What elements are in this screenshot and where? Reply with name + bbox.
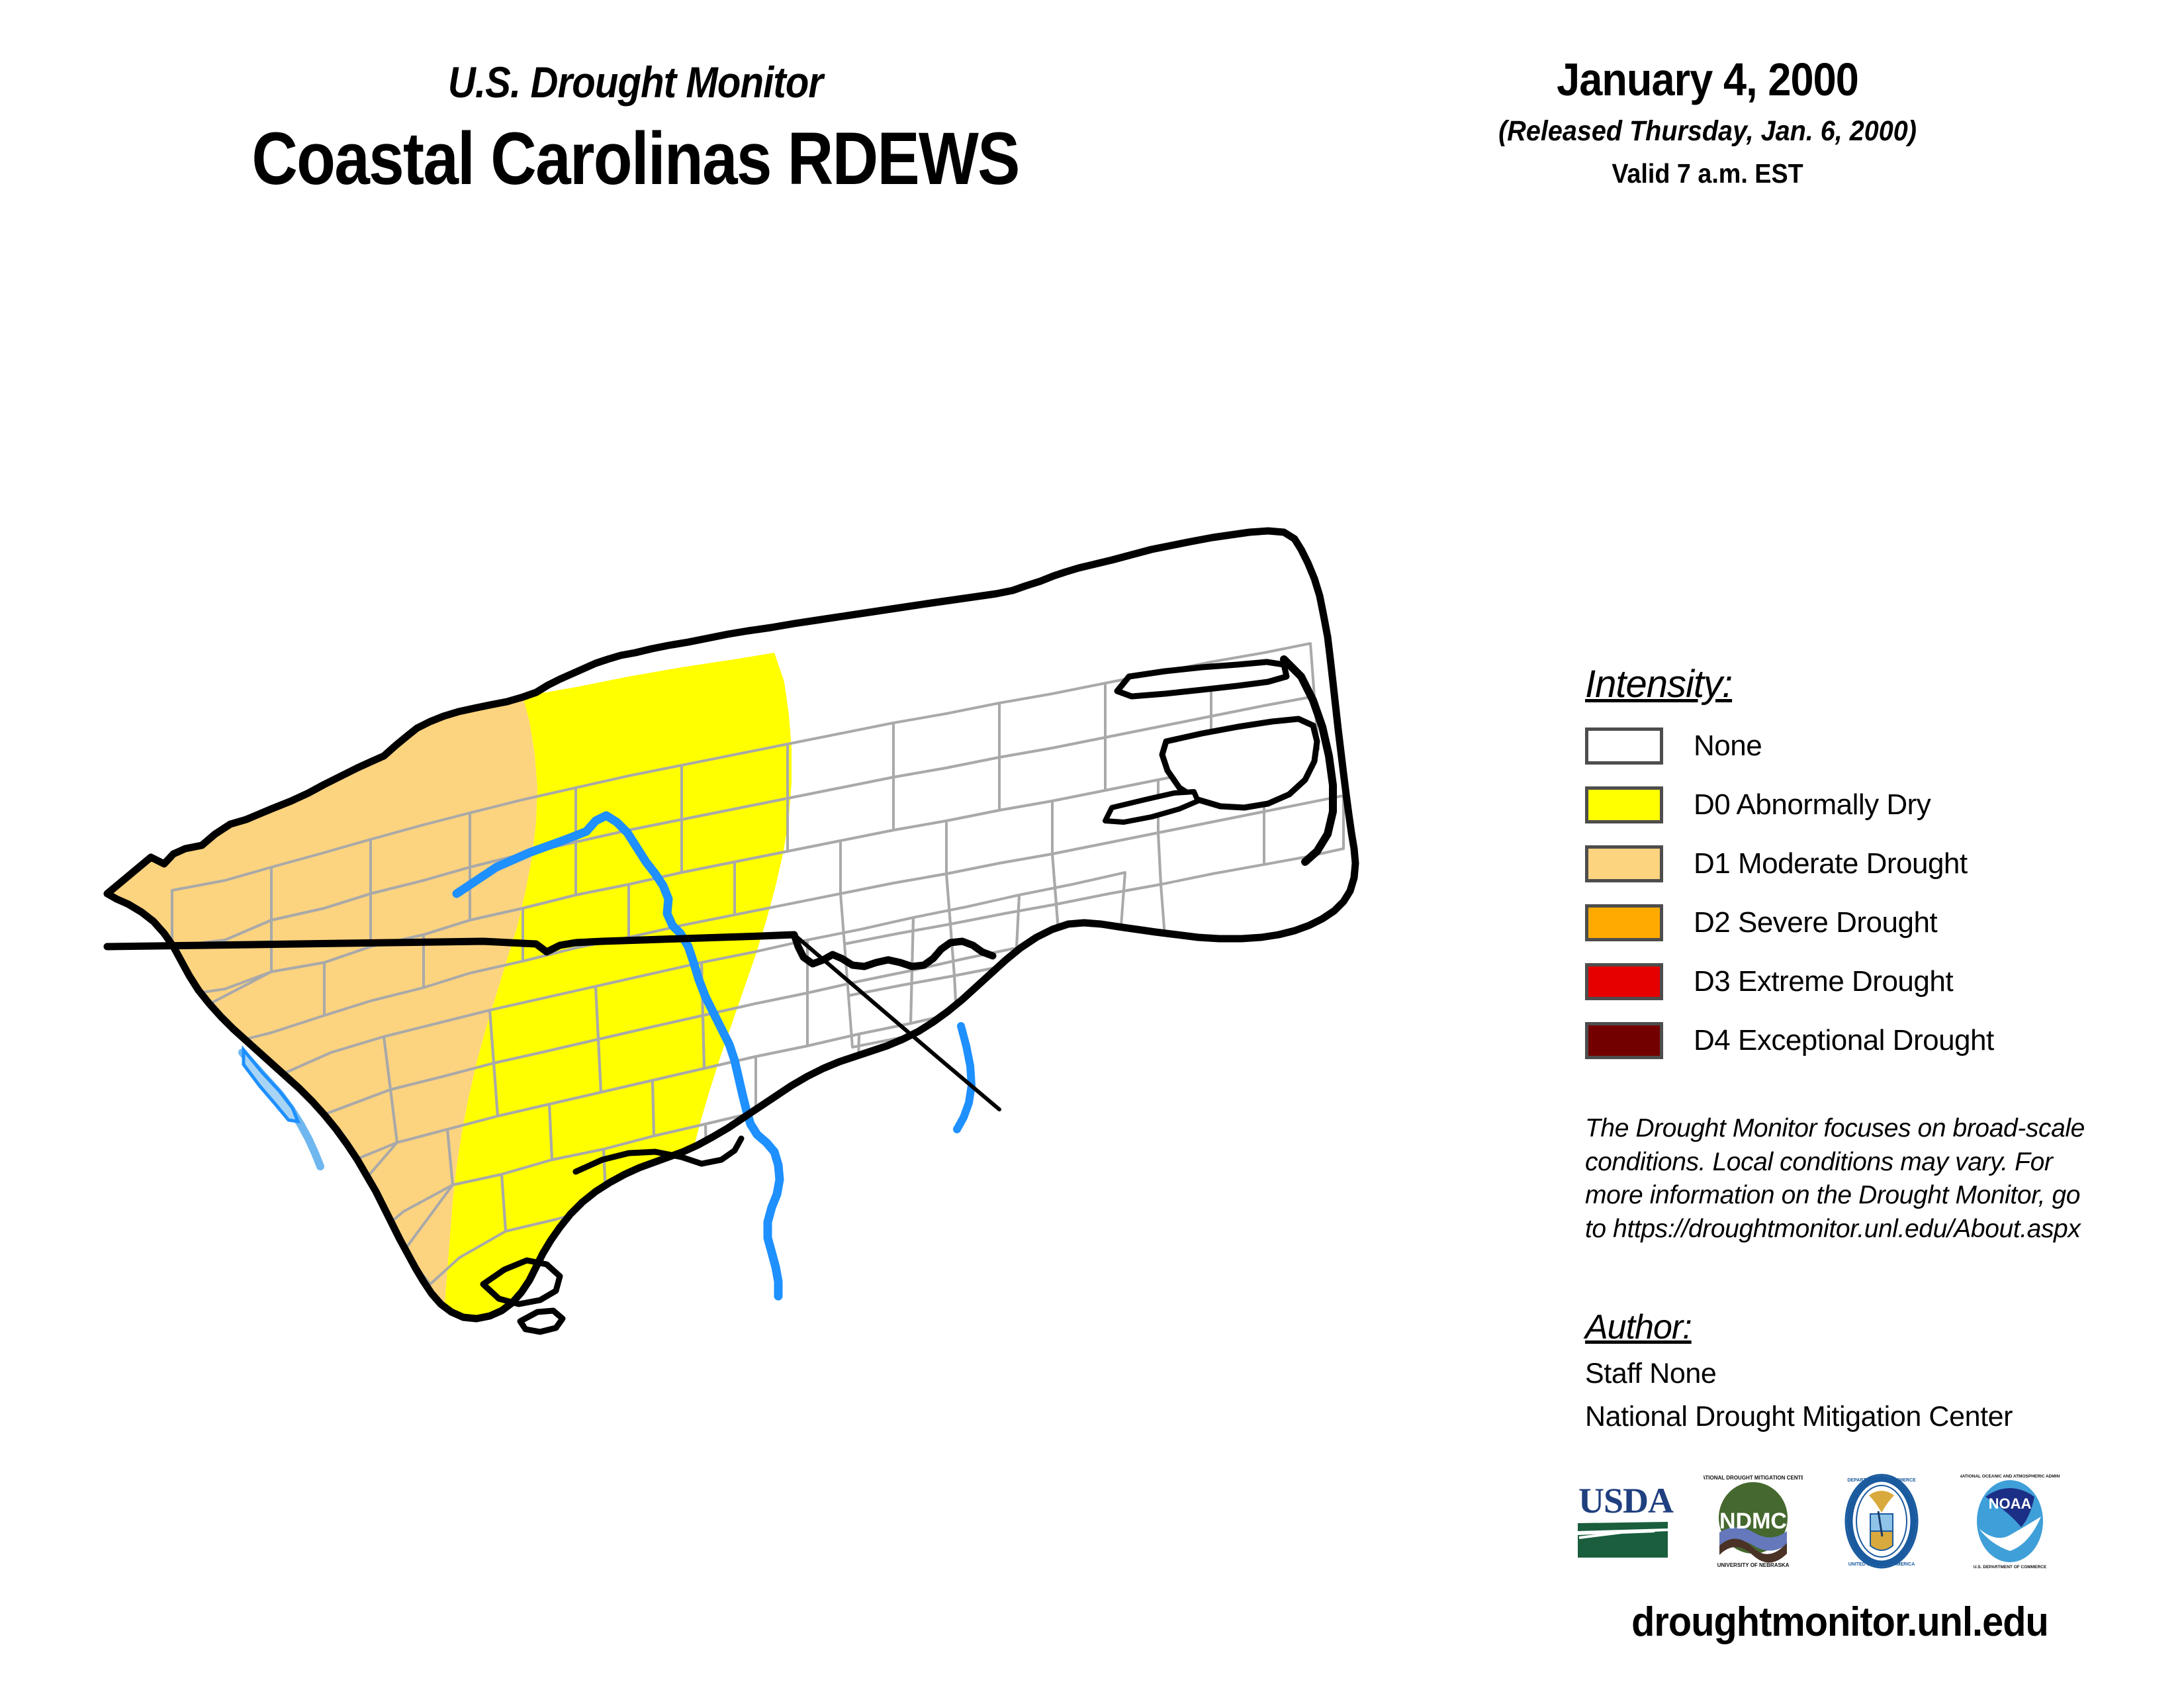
author-block: Author: Staff None National Drought Miti… <box>1585 1307 2108 1433</box>
legend-row-d2: D2 Severe Drought <box>1585 898 2095 947</box>
svg-text:NOAA: NOAA <box>1989 1495 2032 1512</box>
release-date: (Released Thursday, Jan. 6, 2000) <box>1403 115 2012 148</box>
legend-label-d0: D0 Abnormally Dry <box>1694 788 1931 821</box>
legend-title: Intensity: <box>1585 662 1732 706</box>
region-title: Coastal Carolinas RDEWS <box>89 116 1181 201</box>
swatch-d3 <box>1585 963 1663 1000</box>
title-block: U.S. Drought Monitor Coastal Carolinas R… <box>0 0 1310 252</box>
svg-text:NATIONAL DROUGHT MITIGATION CE: NATIONAL DROUGHT MITIGATION CENTER <box>1704 1475 1803 1481</box>
svg-text:U.S. DEPARTMENT OF COMMERCE: U.S. DEPARTMENT OF COMMERCE <box>1974 1565 2047 1570</box>
author-title: Author: <box>1585 1307 2108 1347</box>
valid-time: Valid 7 a.m. EST <box>1403 158 2012 189</box>
svg-text:USDA: USDA <box>1578 1481 1674 1521</box>
svg-text:UNITED STATES OF AMERICA: UNITED STATES OF AMERICA <box>1848 1562 1915 1567</box>
swatch-d2 <box>1585 904 1663 941</box>
map-date: January 4, 2000 <box>1410 53 2005 106</box>
swatch-d4 <box>1585 1022 1663 1059</box>
ndmc-logo: NDMC NATIONAL DROUGHT MITIGATION CENTER … <box>1704 1472 1803 1574</box>
swatch-d0 <box>1585 786 1663 823</box>
noaa-logo: NOAA NATIONAL OCEANIC AND ATMOSPHERIC AD… <box>1960 1472 2060 1574</box>
doc-seal-logo: DEPARTMENT OF COMMERCE UNITED STATES OF … <box>1832 1472 1931 1574</box>
legend: Intensity: None D0 Abnormally Dry D1 Mod… <box>1585 662 2095 1074</box>
legend-label-d4: D4 Exceptional Drought <box>1694 1024 1994 1057</box>
usda-logo: USDA <box>1575 1472 1674 1574</box>
program-title: U.S. Drought Monitor <box>76 57 1195 107</box>
legend-label-none: None <box>1694 729 1762 763</box>
legend-label-d3: D3 Extreme Drought <box>1694 965 1953 998</box>
svg-text:NATIONAL OCEANIC AND ATMOSPHER: NATIONAL OCEANIC AND ATMOSPHERIC ADMIN. <box>1960 1474 2060 1479</box>
author-affiliation: National Drought Mitigation Center <box>1585 1401 2108 1433</box>
legend-row-none: None <box>1585 721 2095 771</box>
author-name: Staff None <box>1585 1358 2108 1390</box>
swatch-none <box>1585 727 1663 765</box>
svg-text:UNIVERSITY OF NEBRASKA: UNIVERSITY OF NEBRASKA <box>1717 1562 1790 1568</box>
svg-text:DEPARTMENT OF COMMERCE: DEPARTMENT OF COMMERCE <box>1847 1478 1916 1483</box>
legend-row-d1: D1 Moderate Drought <box>1585 839 2095 888</box>
legend-label-d2: D2 Severe Drought <box>1694 906 1937 939</box>
disclaimer-text: The Drought Monitor focuses on broad-sca… <box>1585 1112 2108 1246</box>
date-block: January 4, 2000 (Released Thursday, Jan.… <box>1377 53 2038 189</box>
svg-text:NDMC: NDMC <box>1719 1509 1787 1534</box>
legend-row-d3: D3 Extreme Drought <box>1585 957 2095 1006</box>
legend-label-d1: D1 Moderate Drought <box>1694 847 1968 880</box>
legend-row-d4: D4 Exceptional Drought <box>1585 1015 2095 1065</box>
legend-row-d0: D0 Abnormally Dry <box>1585 780 2095 829</box>
site-url: droughtmonitor.unl.edu <box>1563 1599 2117 1646</box>
swatch-d1 <box>1585 845 1663 882</box>
drought-map <box>73 523 1542 1450</box>
logo-strip: USDA NDMC NATIONAL DROUGHT MITIGATION CE… <box>1575 1460 2105 1585</box>
